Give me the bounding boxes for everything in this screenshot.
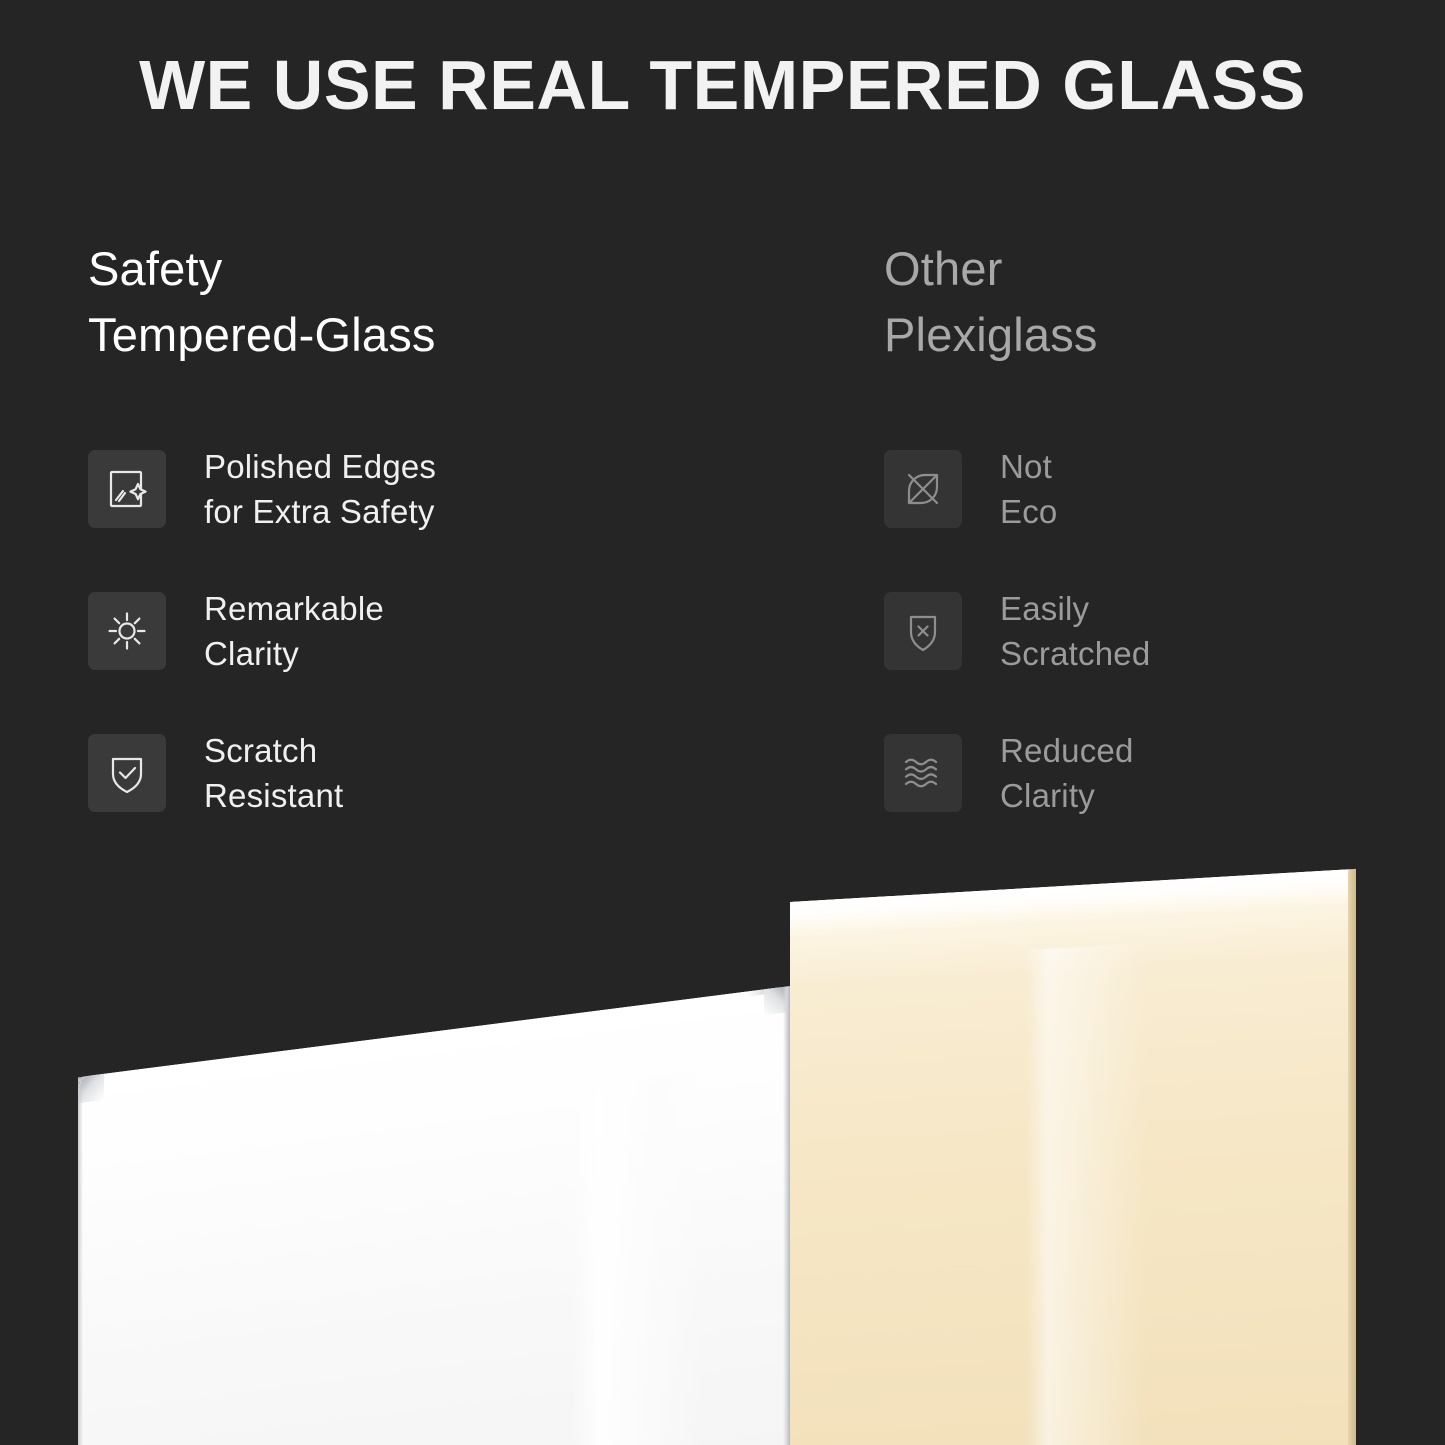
column-title-left: Safety Tempered-Glass <box>88 236 848 368</box>
plexiglass-top-highlight <box>790 869 1350 936</box>
column-title-left-line2: Tempered-Glass <box>88 302 848 368</box>
feature-row-not-eco: Not Eco <box>884 450 1404 528</box>
product-comparison-image <box>0 846 1445 1445</box>
column-title-right-line2: Plexiglass <box>884 302 1404 368</box>
feature-label: Reduced Clarity <box>1000 728 1134 818</box>
column-title-left-line1: Safety <box>88 242 222 295</box>
feature-row-scratch-resistant: Scratch Resistant <box>88 734 848 812</box>
column-title-right: Other Plexiglass <box>884 236 1404 368</box>
feature-label: Scratch Resistant <box>204 728 343 818</box>
plexiglass-reflection <box>1026 943 1148 1445</box>
comparison-infographic: WE USE REAL TEMPERED GLASS Safety Temper… <box>0 0 1445 1445</box>
feature-label: Remarkable Clarity <box>204 586 384 676</box>
feature-label: Not Eco <box>1000 444 1057 534</box>
feature-list-left: Polished Edges for Extra Safety Remarkab… <box>88 450 848 812</box>
sun-brightness-icon <box>88 592 166 670</box>
tempered-glass-right-edge <box>783 986 790 1445</box>
leaf-crossed-out-icon <box>884 450 962 528</box>
column-other-plexiglass: Other Plexiglass Not Eco <box>884 236 1404 368</box>
feature-row-polished-edges: Polished Edges for Extra Safety <box>88 450 848 528</box>
polished-glass-pane-icon <box>88 450 166 528</box>
shield-check-icon <box>88 734 166 812</box>
feature-row-easily-scratched: Easily Scratched <box>884 592 1404 670</box>
feature-label: Polished Edges for Extra Safety <box>204 444 436 534</box>
page-title: WE USE REAL TEMPERED GLASS <box>0 44 1445 126</box>
feature-row-remarkable-clarity: Remarkable Clarity <box>88 592 848 670</box>
tempered-glass-left-edge <box>78 1077 83 1445</box>
plexiglass-right-edge <box>1348 869 1356 1445</box>
column-safety-tempered-glass: Safety Tempered-Glass Polished Edges for… <box>88 236 848 368</box>
tempered-glass-top-edge <box>78 986 790 1082</box>
plexiglass-panel <box>790 869 1350 1445</box>
tempered-glass-panel <box>78 986 790 1445</box>
shield-x-icon <box>884 592 962 670</box>
feature-list-right: Not Eco Easily Scratched <box>884 450 1404 812</box>
tempered-glass-reflection <box>572 1071 704 1445</box>
feature-label: Easily Scratched <box>1000 586 1150 676</box>
feature-row-reduced-clarity: Reduced Clarity <box>884 734 1404 812</box>
column-title-right-line1: Other <box>884 242 1003 295</box>
wavy-lines-icon <box>884 734 962 812</box>
